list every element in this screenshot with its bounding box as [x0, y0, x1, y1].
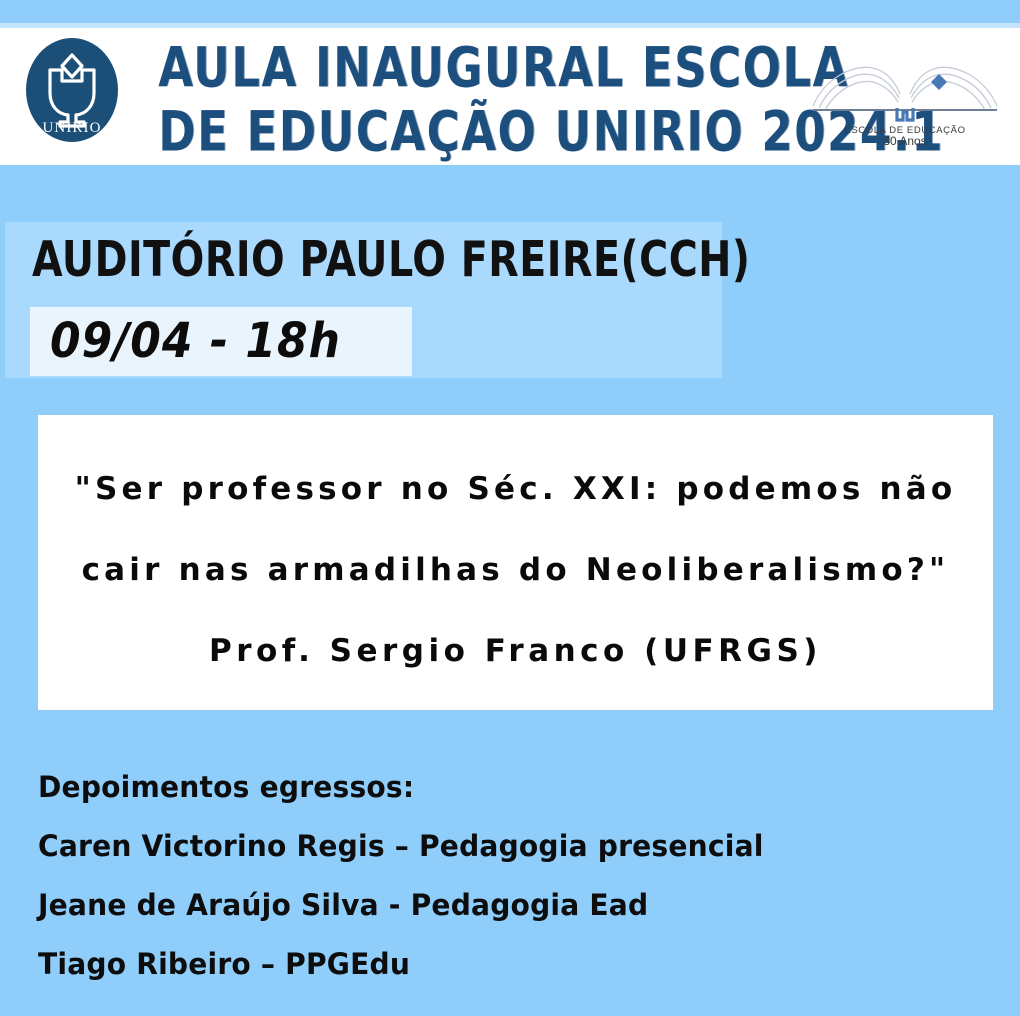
unirio-logo: UNIRIO [24, 36, 120, 144]
event-poster: UNIRIO AULA INAUGURAL ESCOLA DE EDUCAÇÃO… [0, 0, 1020, 1016]
quote-box: "Ser professor no Séc. XXI: podemos não … [38, 415, 993, 710]
ee-logo-line-2: 30 Anos [883, 134, 926, 148]
testimonials-section: Depoimentos egressos: Caren Victorino Re… [38, 758, 938, 994]
quote-speaker: Prof. Sergio Franco (UFRGS) [38, 611, 993, 692]
date-time-text: 09/04 - 18h [50, 312, 341, 371]
testimonials-heading: Depoimentos egressos: [38, 758, 911, 817]
testimonial-item-2: Jeane de Araújo Silva - Pedagogia Ead [38, 876, 911, 935]
venue-text: AUDITÓRIO PAULO FREIRE(CCH) [32, 232, 750, 288]
poster-headline: AULA INAUGURAL ESCOLA DE EDUCAÇÃO UNIRIO… [145, 36, 805, 155]
testimonial-item-1: Caren Victorino Regis – Pedagogia presen… [38, 817, 911, 876]
unirio-logo-icon: UNIRIO [24, 36, 120, 144]
quote-line-1: "Ser professor no Séc. XXI: podemos não [38, 449, 993, 530]
open-book-icon: ESCOLA DE EDUCAÇÃO 30 Anos [805, 50, 1005, 150]
quote-content: "Ser professor no Séc. XXI: podemos não … [38, 449, 993, 692]
quote-line-2: cair nas armadilhas do Neoliberalismo?" [38, 530, 993, 611]
unirio-logo-text: UNIRIO [42, 120, 101, 136]
escola-educacao-30-anos-logo: ESCOLA DE EDUCAÇÃO 30 Anos [805, 50, 1005, 150]
headline-line-2: DE EDUCAÇÃO UNIRIO 2024.1 [158, 100, 792, 165]
headline-line-1: AULA INAUGURAL ESCOLA [158, 36, 792, 101]
testimonial-item-3: Tiago Ribeiro – PPGEdu [38, 935, 911, 994]
